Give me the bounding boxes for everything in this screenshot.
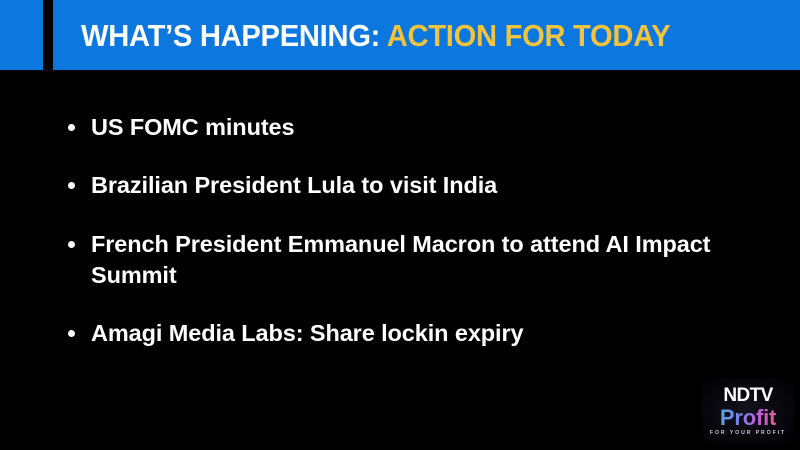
header-band: WHAT’S HAPPENING: ACTION FOR TODAY: [0, 0, 800, 70]
logo-brand-text: NDTV: [723, 385, 772, 406]
list-item: Brazilian President Lula to visit India: [64, 170, 744, 201]
logo-product-name: Profit: [720, 406, 776, 429]
list-item: French President Emmanuel Macron to atte…: [64, 229, 744, 292]
logo-brand-name: NDTV: [723, 386, 772, 405]
header-divider-gap: [43, 0, 53, 70]
list-item-label: Brazilian President Lula to visit India: [91, 170, 711, 201]
header-accent-block: [0, 0, 43, 70]
page-title-primary: WHAT’S HAPPENING:: [81, 18, 380, 53]
bullet-point-icon: [68, 182, 75, 189]
list-item-label: Amagi Media Labs: Share lockin expiry: [91, 318, 711, 349]
list-item-label: French President Emmanuel Macron to atte…: [91, 229, 711, 292]
list-item: Amagi Media Labs: Share lockin expiry: [64, 318, 744, 349]
list-item: US FOMC minutes: [64, 112, 744, 143]
bullet-point-icon: [68, 124, 75, 131]
page-title: WHAT’S HAPPENING: ACTION FOR TODAY: [81, 20, 670, 51]
broadcast-slide: WHAT’S HAPPENING: ACTION FOR TODAY US FO…: [0, 0, 800, 450]
ndtv-profit-logo: NDTV Profit FOR YOUR PROFIT: [702, 378, 794, 444]
list-item-label: US FOMC minutes: [91, 112, 711, 143]
bullet-point-icon: [68, 330, 75, 337]
headlines-list: US FOMC minutes Brazilian President Lula…: [64, 112, 744, 349]
bullet-point-icon: [68, 241, 75, 248]
logo-tagline: FOR YOUR PROFIT: [710, 431, 786, 436]
header-bar: WHAT’S HAPPENING: ACTION FOR TODAY: [53, 0, 800, 70]
page-title-highlight: ACTION FOR TODAY: [387, 18, 671, 53]
